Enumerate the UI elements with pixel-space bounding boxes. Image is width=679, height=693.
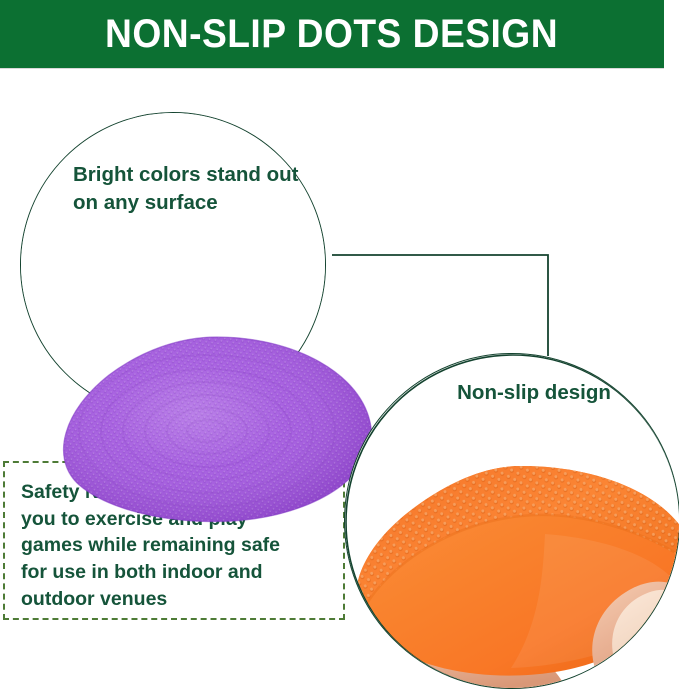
purple-marker-disc-image bbox=[57, 335, 375, 527]
callout-non-slip-design: Non-slip design bbox=[344, 353, 679, 689]
page-title: NON-SLIP DOTS DESIGN bbox=[106, 14, 559, 54]
callout-bright-colors: Bright colors stand out on any surface bbox=[20, 112, 326, 418]
orange-marker-disc-image bbox=[345, 354, 679, 689]
header-banner: NON-SLIP DOTS DESIGN bbox=[0, 0, 664, 68]
connector-line bbox=[330, 248, 552, 360]
